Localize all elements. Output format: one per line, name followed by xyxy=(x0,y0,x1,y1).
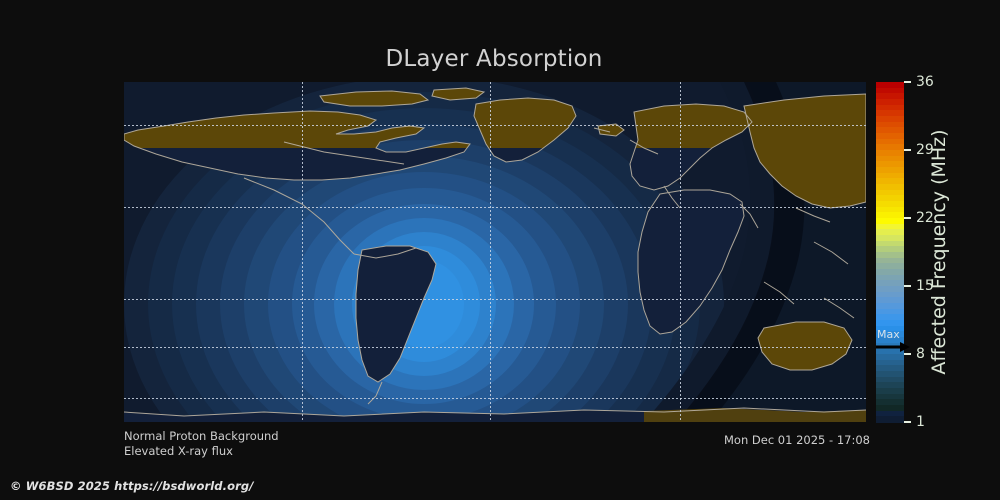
arrow-right-icon xyxy=(876,341,910,353)
tick-dash xyxy=(904,421,911,423)
tick-dash xyxy=(904,285,911,287)
tick-dash xyxy=(904,217,911,219)
lon-line xyxy=(302,82,303,422)
lon-line xyxy=(680,82,681,422)
tick-label: 8 xyxy=(916,344,925,364)
colorbar-segment xyxy=(876,416,904,422)
colorbar xyxy=(876,82,904,422)
graticule xyxy=(124,82,866,422)
condition-notes: Normal Proton Background Elevated X-ray … xyxy=(124,429,279,458)
dlayer-absorption-page: DLayer Absorption xyxy=(0,0,1000,500)
world-map[interactable] xyxy=(124,82,866,422)
copyright-footer: © W6BSD 2025 https://bsdworld.org/ xyxy=(10,479,254,493)
lat-line xyxy=(124,347,866,348)
lon-line xyxy=(490,82,491,422)
lat-line xyxy=(124,299,866,300)
lat-line xyxy=(124,125,866,126)
tick-dash xyxy=(904,81,911,83)
tick-dash xyxy=(904,149,911,151)
max-marker-label: Max xyxy=(877,329,900,341)
colorbar-axis-label: Affected Frequency (MHz) xyxy=(925,82,953,422)
max-marker: Max xyxy=(876,330,910,354)
lat-line xyxy=(124,398,866,399)
timestamp: Mon Dec 01 2025 - 17:08 xyxy=(724,433,870,447)
proton-background-note: Normal Proton Background xyxy=(124,429,279,444)
lat-line xyxy=(124,207,866,208)
tick-label: 1 xyxy=(916,412,925,432)
page-title: DLayer Absorption xyxy=(0,46,994,72)
xray-flux-note: Elevated X-ray flux xyxy=(124,444,279,459)
